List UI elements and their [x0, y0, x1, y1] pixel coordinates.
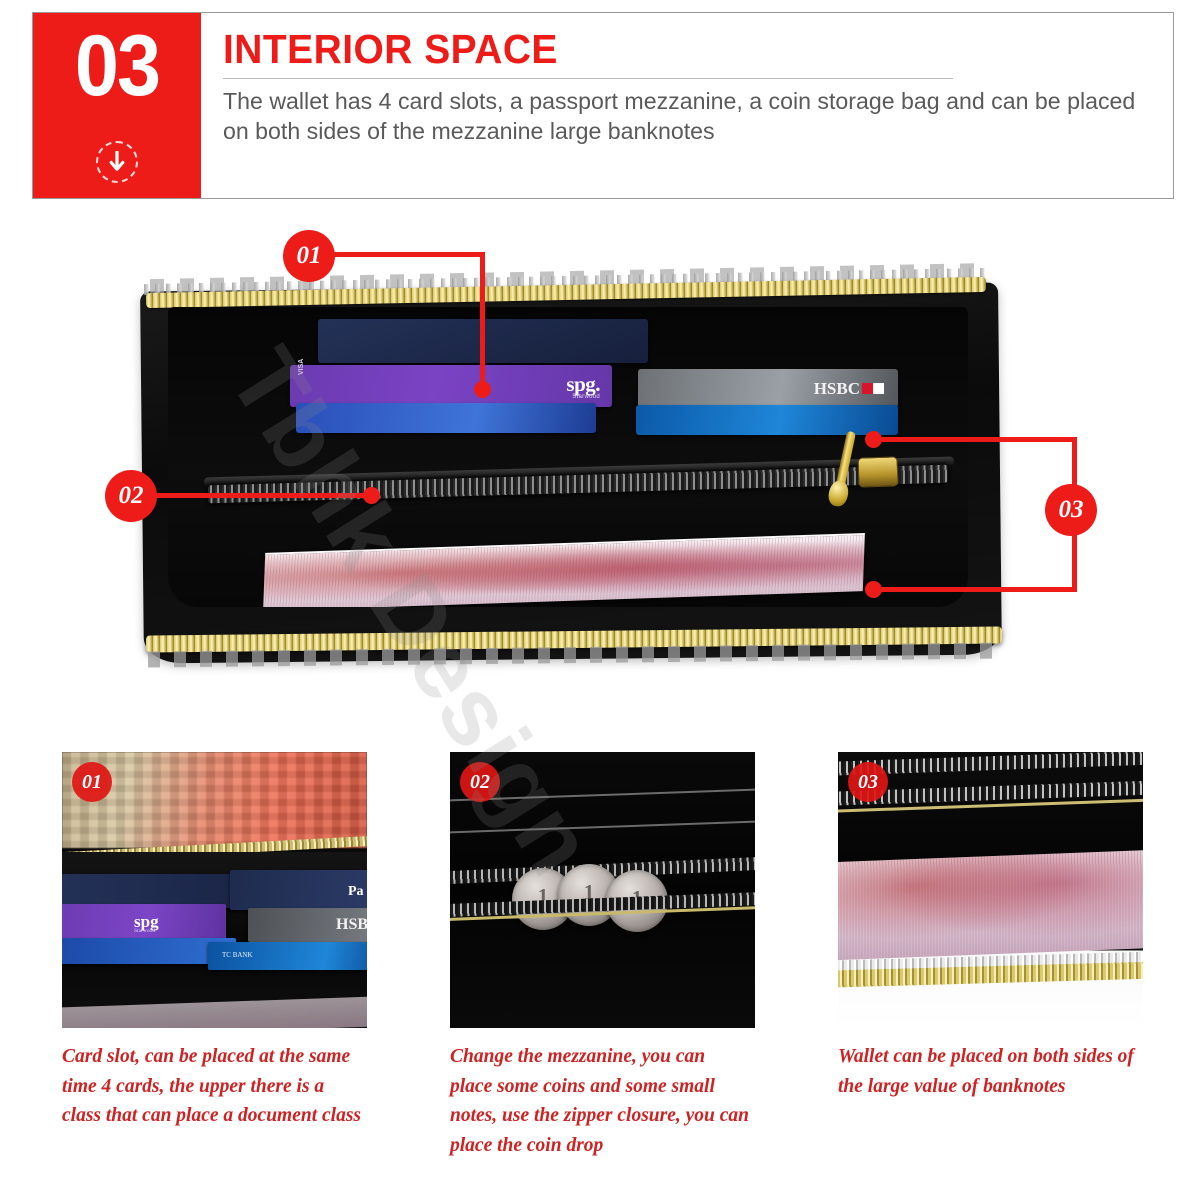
callout-01-lead-vertical [480, 252, 485, 388]
thumb1-outer-print [62, 752, 367, 848]
card-slot-spg: spg. Starwood VISA [290, 365, 612, 407]
page-title: INTERIOR SPACE [223, 19, 1110, 72]
callout-02-anchor-dot [363, 487, 380, 504]
header-description: The wallet has 4 card slots, a passport … [223, 86, 1143, 146]
callout-badge-03[interactable]: 03 [1045, 484, 1097, 536]
thumb1-tcbank-label: TC BANK [222, 951, 253, 959]
thumb1-navy-slot [62, 874, 242, 908]
card-slot-blue-lower-right [636, 405, 898, 435]
wallet-interior-image: spg. Starwood VISA HSBC [120, 255, 1080, 695]
hsbc-hexagon-icon [862, 383, 884, 394]
thumbnail-caption-02: Change the mezzanine, you can place some… [450, 1042, 750, 1161]
callout-03-anchor-dot-bottom [865, 581, 882, 598]
thumb1-passport-label: Pa [348, 884, 364, 900]
thumb1-spg-sublabel: Starwood [134, 928, 155, 934]
thumbnail-block-01: Pa spg Starwood HSBC TC BANK 01 Card slo… [62, 752, 372, 1131]
callout-03-anchor-dot-top [865, 431, 882, 448]
callout-badge-02[interactable]: 02 [105, 470, 157, 522]
detail-thumbnails: Pa spg Starwood HSBC TC BANK 01 Card slo… [0, 752, 1200, 1197]
card-slot-blue-lower-left [296, 403, 596, 433]
card-slot-hsbc: HSBC [638, 369, 898, 407]
banknotes-stack [263, 533, 865, 607]
thumbnail-caption-03: Wallet can be placed on both sides of th… [838, 1042, 1138, 1101]
section-header: 03 INTERIOR SPACE The wallet has 4 card … [32, 12, 1174, 199]
callout-badge-01[interactable]: 01 [283, 230, 335, 282]
step-number-block: 03 [33, 13, 201, 198]
header-divider [223, 78, 953, 79]
thumbnail-image-01[interactable]: Pa spg Starwood HSBC TC BANK 01 [62, 752, 367, 1028]
spg-card-sublabel: Starwood [572, 394, 600, 400]
thumb1-hsbc-card: HSBC [248, 908, 367, 942]
callout-03-lead-bottom [872, 587, 1077, 592]
visa-mini-logo: VISA [298, 359, 306, 375]
callout-01-lead-horizontal [333, 252, 485, 257]
thumb3-banknotes [838, 850, 1143, 961]
thumbnail-caption-01: Card slot, can be placed at the same tim… [62, 1042, 362, 1131]
arrow-down-icon [96, 141, 138, 183]
thumbnail-badge-02[interactable]: 02 [460, 762, 500, 802]
callout-02-lead-horizontal [155, 493, 370, 498]
callout-03-lead-top [872, 437, 1077, 442]
thumbnail-image-03[interactable]: 03 [838, 752, 1143, 1028]
thumb1-tcbank-card: TC BANK [208, 942, 367, 970]
thumb1-hsbc-label: HSBC [336, 916, 367, 934]
header-text-block: INTERIOR SPACE The wallet has 4 card slo… [201, 13, 1173, 198]
hsbc-card-logo: HSBC [814, 379, 860, 399]
hero-product-photo: spg. Starwood VISA HSBC [120, 255, 1080, 695]
thumbnail-block-02: 1 1 1 02 Change the mezzanine, you can p… [450, 752, 760, 1161]
thumb1-spg-card: spg Starwood [62, 904, 226, 940]
infographic-page: 03 INTERIOR SPACE The wallet has 4 card … [0, 0, 1200, 1197]
thumbnail-badge-01[interactable]: 01 [72, 762, 112, 802]
thumb1-passport-card: Pa [230, 870, 367, 910]
thumbnail-image-02[interactable]: 1 1 1 02 [450, 752, 755, 1028]
thumbnail-badge-03[interactable]: 03 [848, 762, 888, 802]
step-number: 03 [40, 23, 195, 109]
thumbnail-block-03: 03 Wallet can be placed on both sides of… [838, 752, 1148, 1101]
callout-01-anchor-dot [474, 381, 491, 398]
zipper-slider [857, 456, 898, 487]
